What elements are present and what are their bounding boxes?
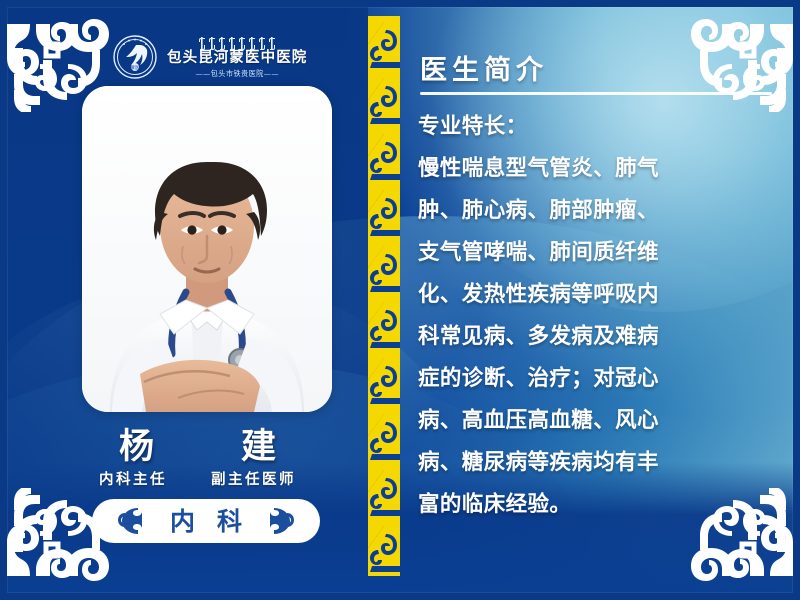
department-badge: 内科: [92, 499, 320, 543]
hospital-subtitle: ——包头市铁贵医院——: [195, 69, 278, 79]
bio-line: 科常见病、多发病及难病: [418, 316, 774, 358]
cloud-scroll-icon: [270, 506, 296, 536]
hospital-name-block: 包头昆河蒙医中医院 ——包头市铁贵医院——: [167, 35, 307, 79]
bio-line: 症的诊断、治疗；对冠心: [418, 358, 774, 400]
department-name: 内科: [148, 509, 264, 534]
mongolian-scroll-corner-icon: [688, 16, 794, 112]
doctor-role-secondary: 副主任医师: [211, 468, 296, 489]
bio-line: 富的临床经验。: [418, 484, 774, 526]
doctor-name: 杨 建: [0, 418, 395, 469]
doctor-bio: 专业特长： 慢性喘息型气管炎、肺气 肿、肺心病、肺部肿瘤、 支气管哮喘、肺间质纤…: [418, 106, 774, 526]
hospital-brand: 蒙医 包头昆河蒙医中医院 ——包头市铁贵医院——: [112, 34, 307, 80]
bio-specialty-label: 专业特长：: [418, 106, 774, 148]
bio-line: 支气管哮喘、肺间质纤维: [418, 232, 774, 274]
bio-line: 病、糖尿病等疾病均有丰: [418, 442, 774, 484]
doctor-roles: 内科主任 副主任医师: [0, 468, 395, 489]
cloud-scroll-icon: [116, 506, 142, 536]
svg-text:蒙医: 蒙医: [131, 64, 140, 71]
hospital-name: 包头昆河蒙医中医院: [167, 51, 307, 66]
hospital-emblem-icon: 蒙医: [112, 34, 158, 80]
bio-line: 慢性喘息型气管炎、肺气: [418, 148, 774, 190]
title-divider: [420, 92, 772, 95]
doctor-photo: [82, 86, 332, 412]
page-title: 医生简介: [420, 48, 548, 87]
bio-line: 化、发热性疾病等呼吸内: [418, 274, 774, 316]
bio-line: 病、高血压高血糖、风心: [418, 400, 774, 442]
doctor-role-primary: 内科主任: [99, 468, 167, 489]
mongolian-script-line: [200, 35, 275, 50]
mongolian-chevron-band-icon: [366, 16, 402, 584]
bio-line: 肿、肺心病、肺部肿瘤、: [418, 190, 774, 232]
doctor-profile-card: 蒙医 包头昆河蒙医中医院 ——包头市铁贵医院——: [0, 0, 800, 600]
mongolian-scroll-corner-icon: [6, 488, 112, 584]
